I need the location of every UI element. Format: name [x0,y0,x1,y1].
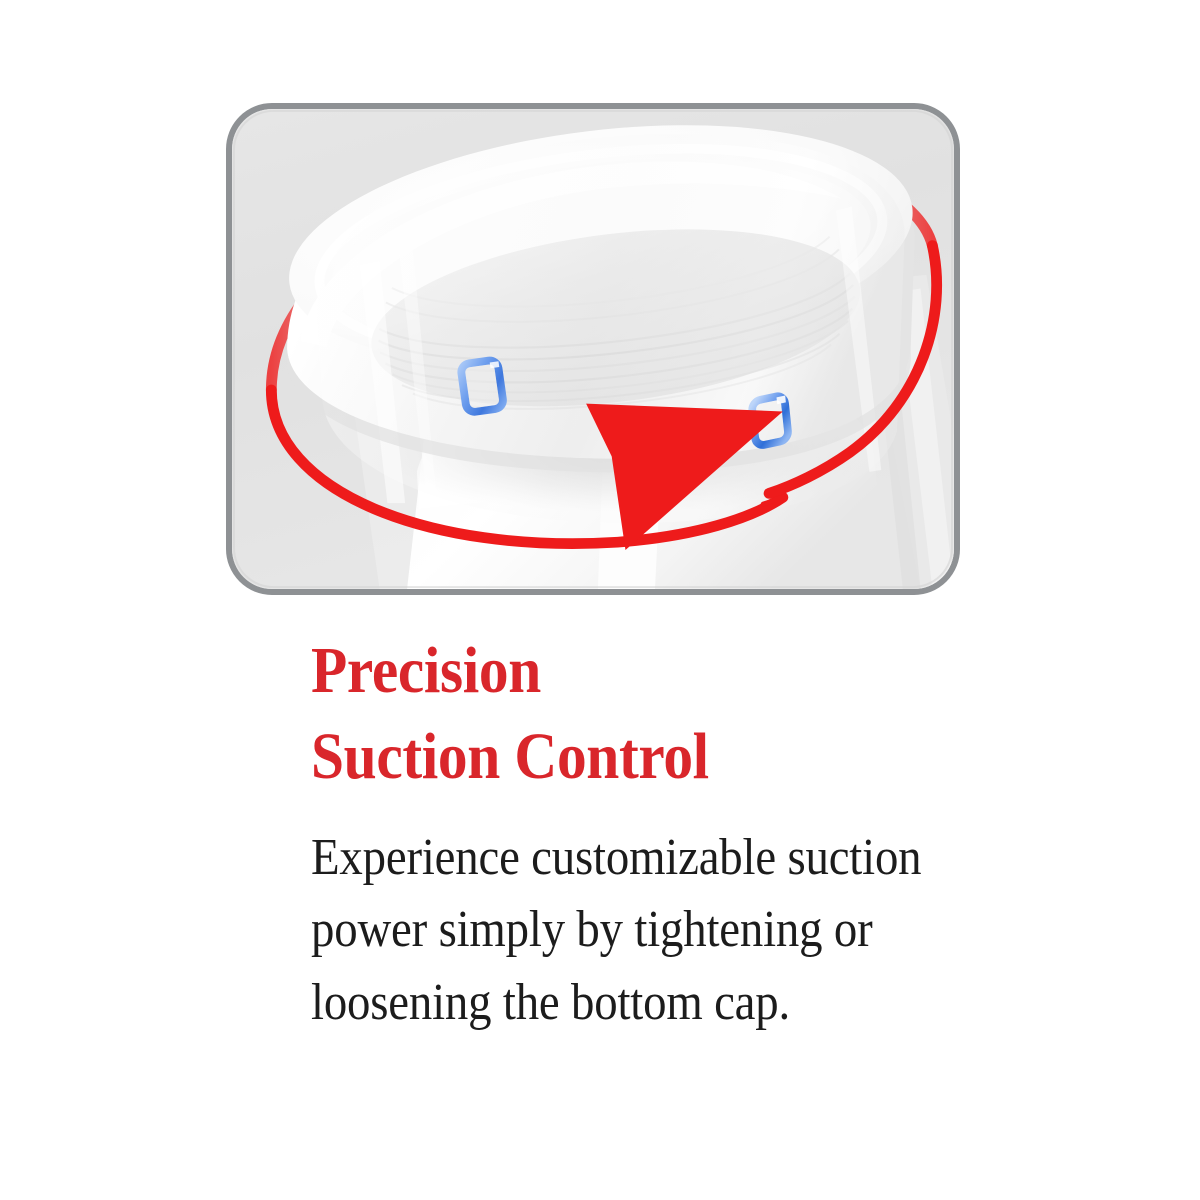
feature-text-block: Precision Suction Control Experience cus… [311,628,1011,1040]
rotating-cap-illustration [232,109,954,589]
product-illustration-panel [226,103,960,595]
feature-callout-page: Precision Suction Control Experience cus… [0,0,1200,1200]
alignment-marker-left [460,359,505,413]
page-title: Precision Suction Control [311,628,941,800]
feature-description: Experience customizable suction power si… [311,822,977,1040]
